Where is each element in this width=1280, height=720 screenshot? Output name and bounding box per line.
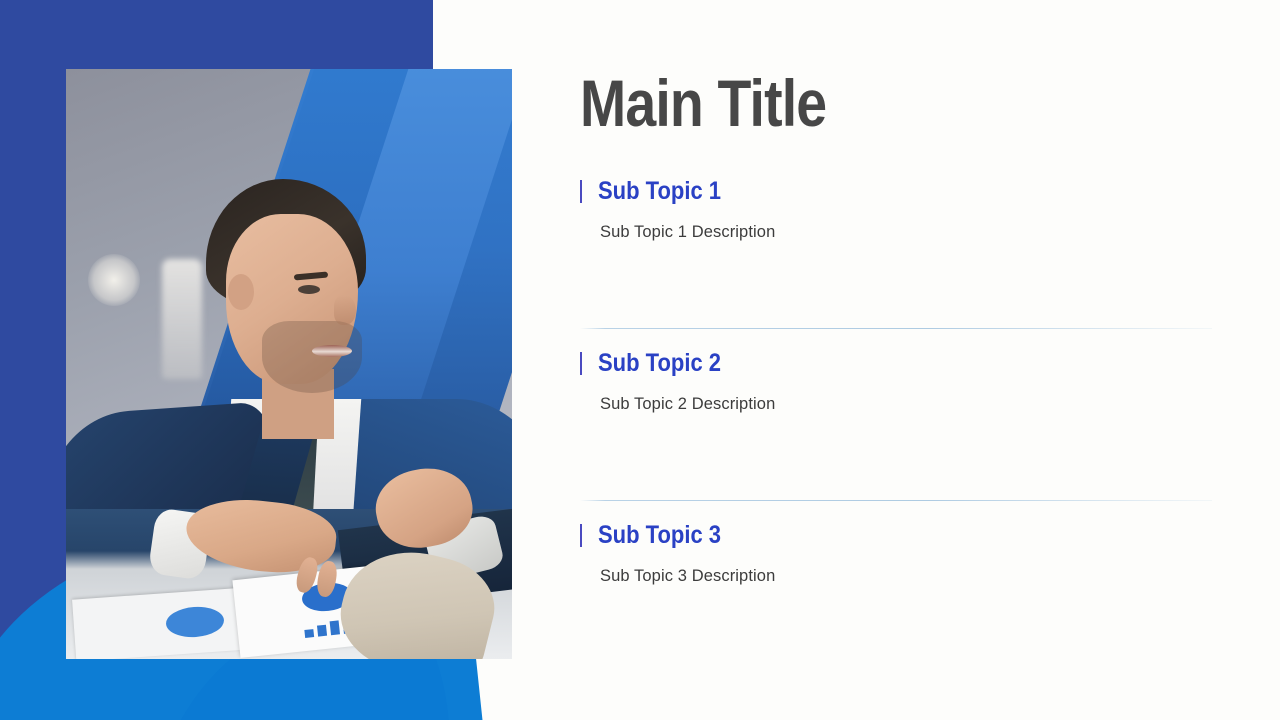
topic-1-heading-row: Sub Topic 1 xyxy=(580,176,1212,206)
slide-content: Main Title Sub Topic 1 Sub Topic 1 Descr… xyxy=(580,0,1220,720)
topic-1-title: Sub Topic 1 xyxy=(598,177,721,206)
divider-1 xyxy=(580,328,1212,329)
topic-1-description: Sub Topic 1 Description xyxy=(600,223,1212,242)
photo-beard xyxy=(262,321,362,393)
accent-bar-icon xyxy=(580,524,582,547)
photo-bottle-blur xyxy=(162,259,202,379)
topic-block-1: Sub Topic 1 Sub Topic 1 Description xyxy=(580,176,1212,242)
topic-2-description: Sub Topic 2 Description xyxy=(600,395,1212,414)
photo-eye xyxy=(298,285,320,294)
topic-2-title: Sub Topic 2 xyxy=(598,349,721,378)
accent-bar-icon xyxy=(580,180,582,203)
photo-nose xyxy=(334,295,356,325)
page-title: Main Title xyxy=(580,70,826,136)
presentation-slide: Main Title Sub Topic 1 Sub Topic 1 Descr… xyxy=(0,0,1280,720)
topic-3-title: Sub Topic 3 xyxy=(598,521,721,550)
photo-lamp-blur xyxy=(88,254,140,306)
topic-3-heading-row: Sub Topic 3 xyxy=(580,520,1212,550)
photo-mouth xyxy=(312,345,352,357)
divider-2 xyxy=(580,500,1212,501)
topic-2-heading-row: Sub Topic 2 xyxy=(580,348,1212,378)
photo-ear xyxy=(228,274,254,310)
accent-bar-icon xyxy=(580,352,582,375)
topic-3-description: Sub Topic 3 Description xyxy=(600,567,1212,586)
businessman-photo xyxy=(66,69,512,659)
photo-canvas xyxy=(66,69,512,659)
topic-block-2: Sub Topic 2 Sub Topic 2 Description xyxy=(580,348,1212,414)
topic-block-3: Sub Topic 3 Sub Topic 3 Description xyxy=(580,520,1212,586)
